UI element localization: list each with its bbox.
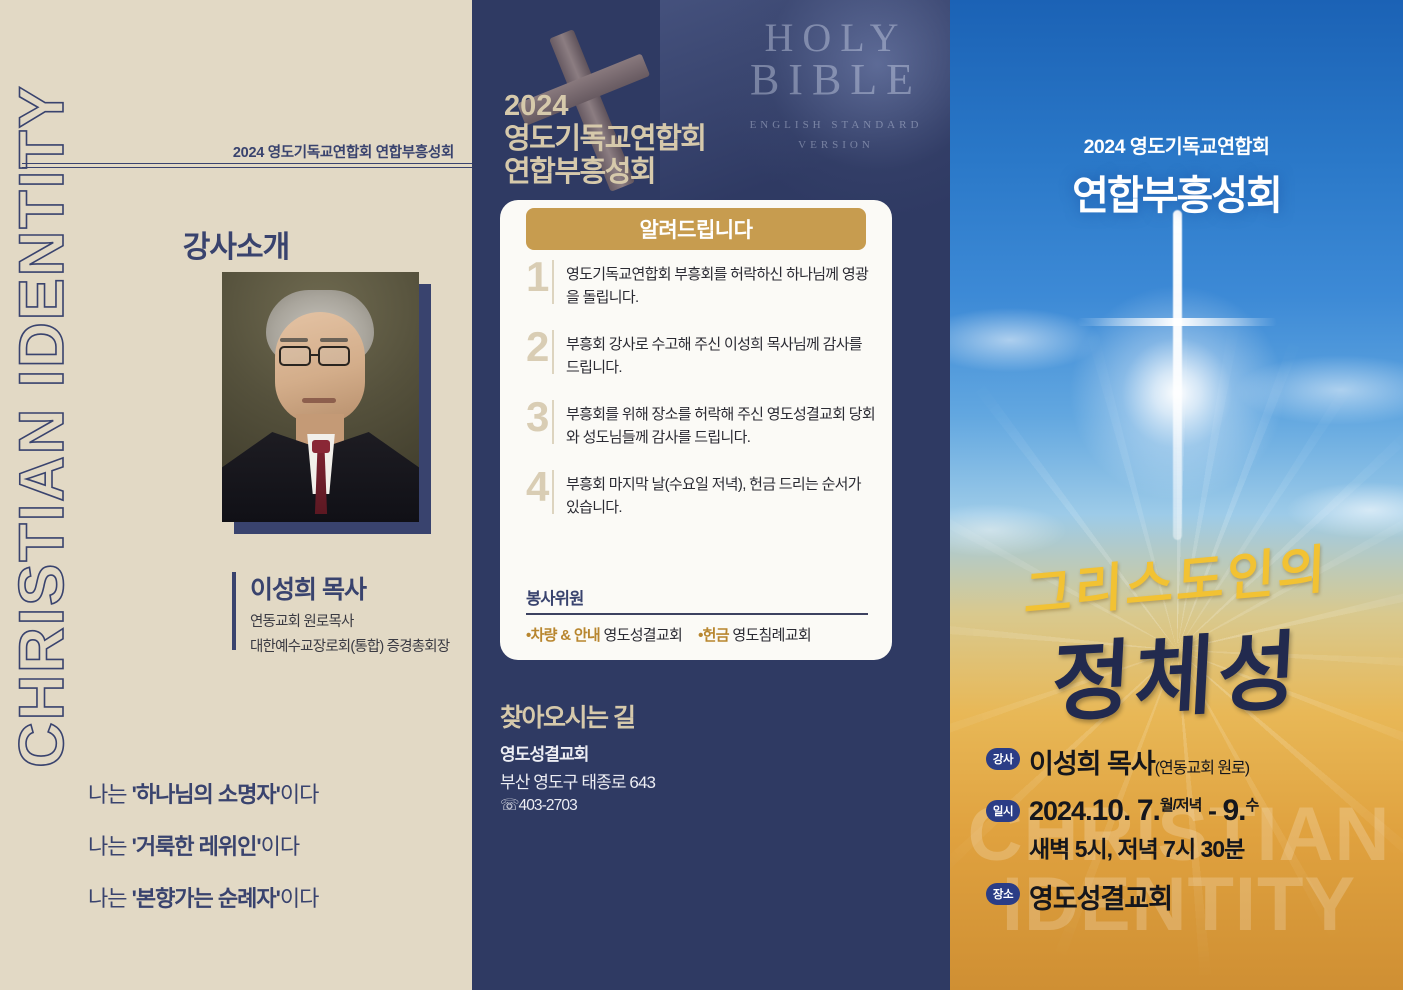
volunteer-church: 영도침례교회 bbox=[732, 627, 811, 644]
left-header-divider bbox=[22, 163, 472, 168]
info-row-date: 일시 2024.10. 7.월/저녁 - 9.수 새벽 5시, 저녁 7시 30… bbox=[986, 794, 1258, 864]
portrait-brow-right bbox=[320, 338, 348, 342]
slogan-item: 나는 '하나님의 소명자'이다 bbox=[88, 777, 318, 809]
slogan-suffix: 이다 bbox=[280, 782, 318, 807]
right-header-block: 2024 영도기독교연합회 연합부흥성회 bbox=[950, 130, 1403, 221]
volunteer-church: 영도성결교회 bbox=[604, 627, 683, 644]
date-day: 7. bbox=[1137, 794, 1160, 827]
directions-title: 찾아오시는 길 bbox=[500, 698, 634, 734]
address-church-name: 영도성결교회 bbox=[500, 740, 655, 765]
bible-cover-text: HOLY BIBLE ENGLISH STANDARD VERSION bbox=[736, 18, 936, 156]
notice-text: 부흥회 마지막 날(수요일 저녁), 헌금 드리는 순서가 있습니다. bbox=[566, 472, 876, 519]
slogan-suffix: 이다 bbox=[280, 886, 318, 911]
volunteer-row: •차량 & 안내 영도성결교회•헌금 영도침례교회 bbox=[526, 624, 868, 645]
notice-banner-label: 알려드립니다 bbox=[640, 214, 753, 244]
portrait-glasses-bridge bbox=[311, 354, 318, 356]
slogan-item: 나는 '본향가는 순례자'이다 bbox=[88, 881, 318, 913]
place-name: 영도성결교회 bbox=[1029, 884, 1172, 914]
vertical-christian-identity-text: CHRISTIAN IDENTITY bbox=[12, 26, 72, 826]
address-block: 영도성결교회 부산 영도구 태종로 643 ☏403-2703 bbox=[500, 740, 655, 815]
portrait-brow-left bbox=[280, 338, 308, 342]
notice-item: 3 부흥회를 위해 장소를 허락해 주신 영도성결교회 당회와 성도님들께 감사… bbox=[526, 402, 876, 449]
speaker-subtitle-2: 대한예수교장로회(통합) 증경총회장 bbox=[250, 635, 449, 656]
cross-glow bbox=[1062, 278, 1292, 508]
date-end-note: 수 bbox=[1245, 797, 1258, 814]
slogan-prefix: 나는 bbox=[88, 782, 132, 807]
notice-item: 2 부흥회 강사로 수고해 주신 이성희 목사님께 감사를 드립니다. bbox=[526, 332, 876, 379]
volunteer-section: 봉사위원 •차량 & 안내 영도성결교회•헌금 영도침례교회 bbox=[526, 585, 868, 645]
date-day-note: 월/저녁 bbox=[1160, 797, 1202, 814]
notice-item: 4 부흥회 마지막 날(수요일 저녁), 헌금 드리는 순서가 있습니다. bbox=[526, 472, 876, 519]
right-panel: CHRISTIAN IDENTITY 2024 영도기독교연합회 연합부흥성회 … bbox=[950, 0, 1403, 990]
date-dash: - bbox=[1208, 796, 1216, 826]
middle-title-block: 2024 영도기독교연합회 연합부흥성회 bbox=[504, 90, 705, 189]
portrait-glasses-right bbox=[318, 346, 350, 366]
volunteer-role: 차량 & 안내 bbox=[531, 627, 600, 644]
notice-number: 4 bbox=[526, 466, 549, 508]
date-badge: 일시 bbox=[986, 800, 1020, 822]
notice-number: 1 bbox=[526, 256, 549, 298]
slogan-strong: '본향가는 순례자' bbox=[132, 886, 280, 911]
notice-text: 영도기독교연합회 부흥회를 허락하신 하나님께 영광을 돌립니다. bbox=[566, 262, 876, 309]
event-info-block: 강사 이성희 목사(연동교회 원로) 일시 2024.10. 7.월/저녁 - … bbox=[986, 742, 1258, 929]
date-year: 2024. bbox=[1029, 796, 1092, 826]
portrait-mouth bbox=[302, 398, 336, 403]
address-street: 부산 영도구 태종로 643 bbox=[500, 768, 655, 793]
speaker-note: (연동교회 원로) bbox=[1155, 760, 1249, 777]
notice-number: 3 bbox=[526, 396, 549, 438]
speaker-intro-title: 강사소개 bbox=[0, 222, 472, 266]
portrait-tie-knot bbox=[312, 440, 330, 453]
bible-holy-text: HOLY bbox=[736, 18, 936, 58]
middle-panel: HOLY BIBLE ENGLISH STANDARD VERSION 2024… bbox=[472, 0, 950, 990]
slogan-strong: '하나님의 소명자' bbox=[132, 782, 280, 807]
left-panel: CHRISTIAN IDENTITY 2024 영도기독교연합회 연합부흥성회 … bbox=[0, 0, 472, 990]
volunteer-divider bbox=[526, 613, 868, 615]
speaker-body: 이성희 목사(연동교회 원로) bbox=[1029, 742, 1249, 781]
speaker-name: 이성희 목사 bbox=[1029, 749, 1155, 779]
speaker-info-block: 이성희 목사 연동교회 원로목사 대한예수교장로회(통합) 증경총회장 bbox=[232, 570, 449, 656]
calligraphy-line-2: 정체성 bbox=[1049, 600, 1305, 739]
notice-number: 2 bbox=[526, 326, 549, 368]
slogan-suffix: 이다 bbox=[261, 834, 299, 859]
info-row-place: 장소 영도성결교회 bbox=[986, 877, 1258, 916]
calligraphy-title: 그리스도인의 정체성 bbox=[950, 540, 1403, 732]
speaker-subtitle-1: 연동교회 원로목사 bbox=[250, 610, 449, 631]
place-badge: 장소 bbox=[986, 883, 1020, 905]
notice-card: 알려드립니다 1 영도기독교연합회 부흥회를 허락하신 하나님께 영광을 돌립니… bbox=[500, 200, 892, 660]
date-line: 2024.10. 7.월/저녁 - 9.수 bbox=[1029, 794, 1258, 828]
slogan-prefix: 나는 bbox=[88, 886, 132, 911]
bible-bible-text: BIBLE bbox=[736, 58, 936, 102]
portrait-photo bbox=[222, 272, 419, 522]
address-phone: ☏403-2703 bbox=[500, 796, 655, 815]
notice-text: 부흥회를 위해 장소를 허락해 주신 영도성결교회 당회와 성도님들께 감사를 … bbox=[566, 402, 876, 449]
date-body: 2024.10. 7.월/저녁 - 9.수 새벽 5시, 저녁 7시 30분 bbox=[1029, 794, 1258, 864]
info-row-speaker: 강사 이성희 목사(연동교회 원로) bbox=[986, 742, 1258, 781]
slogan-prefix: 나는 bbox=[88, 834, 132, 859]
volunteer-title: 봉사위원 bbox=[526, 585, 868, 609]
speaker-badge: 강사 bbox=[986, 748, 1020, 770]
notice-item: 1 영도기독교연합회 부흥회를 허락하신 하나님께 영광을 돌립니다. bbox=[526, 262, 876, 309]
notice-text: 부흥회 강사로 수고해 주신 이성희 목사님께 감사를 드립니다. bbox=[566, 332, 876, 379]
bible-version-text: ENGLISH STANDARD VERSION bbox=[736, 116, 936, 156]
middle-title-line2: 연합부흥성회 bbox=[504, 156, 705, 189]
speaker-name: 이성희 목사 bbox=[250, 570, 449, 606]
notice-banner: 알려드립니다 bbox=[526, 208, 866, 250]
date-end: 9. bbox=[1222, 794, 1245, 827]
left-header-label: 2024 영도기독교연합회 연합부흥성회 bbox=[233, 141, 454, 162]
volunteer-role: 헌금 bbox=[703, 627, 729, 644]
speaker-portrait bbox=[222, 272, 419, 522]
middle-title-line1: 영도기독교연합회 bbox=[504, 123, 705, 156]
place-body: 영도성결교회 bbox=[1029, 877, 1172, 916]
time-text: 새벽 5시, 저녁 7시 30분 bbox=[1029, 830, 1258, 864]
slogan-item: 나는 '거룩한 레위인'이다 bbox=[88, 829, 318, 861]
middle-title-year: 2024 bbox=[504, 90, 705, 123]
right-header-big: 연합부흥성회 bbox=[950, 163, 1403, 221]
portrait-face bbox=[275, 312, 365, 424]
portrait-glasses-left bbox=[279, 346, 311, 366]
notice-list: 1 영도기독교연합회 부흥회를 허락하신 하나님께 영광을 돌립니다. 2 부흥… bbox=[526, 262, 876, 542]
slogan-strong: '거룩한 레위인' bbox=[132, 834, 261, 859]
brochure-page: CHRISTIAN IDENTITY 2024 영도기독교연합회 연합부흥성회 … bbox=[0, 0, 1403, 990]
date-month: 10. bbox=[1092, 794, 1131, 827]
slogan-list: 나는 '하나님의 소명자'이다 나는 '거룩한 레위인'이다 나는 '본향가는 … bbox=[88, 777, 318, 933]
right-header-small: 2024 영도기독교연합회 bbox=[950, 130, 1403, 159]
